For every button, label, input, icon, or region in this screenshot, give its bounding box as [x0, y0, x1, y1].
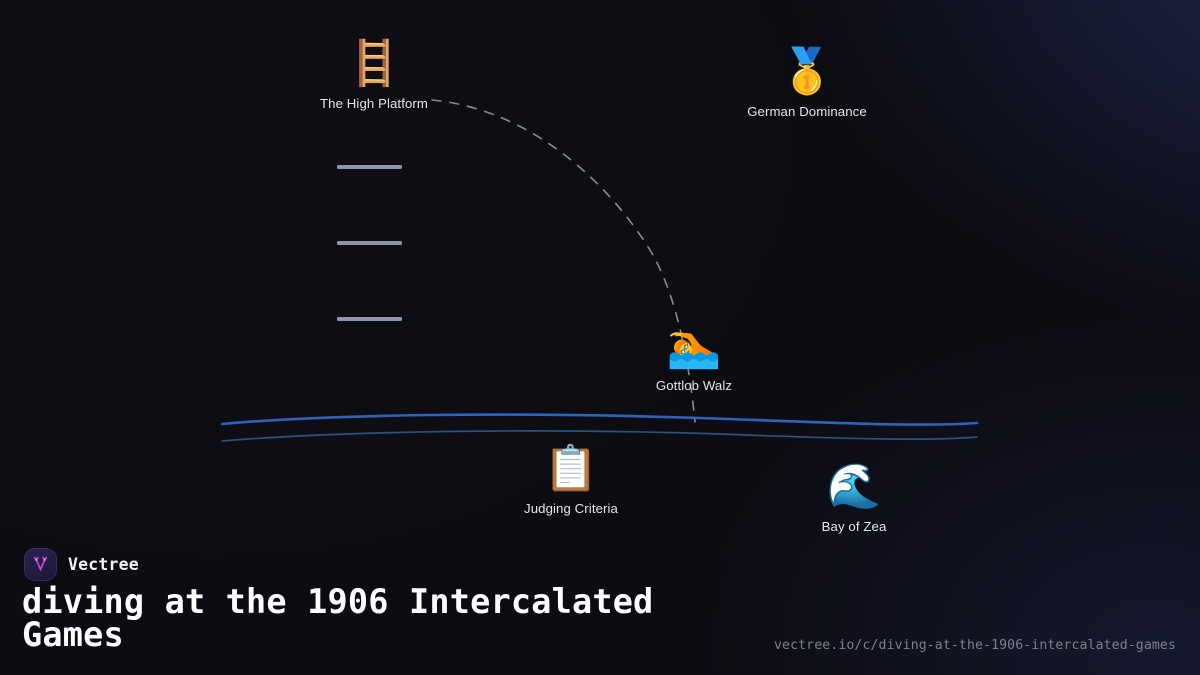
- vectree-logo-icon: [24, 548, 57, 581]
- node-label: Bay of Zea: [744, 519, 964, 535]
- node-judging-criteria[interactable]: 📋 Judging Criteria: [461, 443, 681, 517]
- platform-5m: [337, 317, 402, 321]
- source-url: vectree.io/c/diving-at-the-1906-intercal…: [774, 638, 1176, 653]
- diving-platforms: [337, 165, 402, 321]
- water-surface: [222, 415, 977, 441]
- clipboard-icon: 📋: [461, 443, 681, 495]
- node-the-high-platform[interactable]: 🪜 The High Platform: [264, 38, 484, 112]
- water-line-bottom: [222, 431, 977, 441]
- gold-medal-icon: 🥇: [697, 46, 917, 98]
- node-label: Judging Criteria: [461, 501, 681, 517]
- brand: Vectree: [24, 548, 139, 581]
- wave-icon: 🌊: [744, 461, 964, 513]
- node-german-dominance[interactable]: 🥇 German Dominance: [697, 46, 917, 120]
- platform-7m: [337, 241, 402, 245]
- platform-10m: [337, 165, 402, 169]
- node-bay-of-zea[interactable]: 🌊 Bay of Zea: [744, 461, 964, 535]
- footer: Vectree diving at the 1906 Intercalated …: [0, 537, 1200, 675]
- ladder-icon: 🪜: [264, 38, 484, 90]
- node-label: German Dominance: [697, 104, 917, 120]
- node-label: The High Platform: [264, 96, 484, 112]
- brand-name: Vectree: [68, 555, 139, 574]
- node-gottlob-walz[interactable]: 🏊 Gottlob Walz: [584, 320, 804, 394]
- infographic-canvas: 🪜 The High Platform 🥇 German Dominance 🏊…: [0, 0, 1200, 675]
- water-line-top: [222, 415, 977, 425]
- page-title: diving at the 1906 Intercalated Games: [22, 585, 722, 651]
- node-label: Gottlob Walz: [584, 378, 804, 394]
- swimmer-icon: 🏊: [584, 320, 804, 372]
